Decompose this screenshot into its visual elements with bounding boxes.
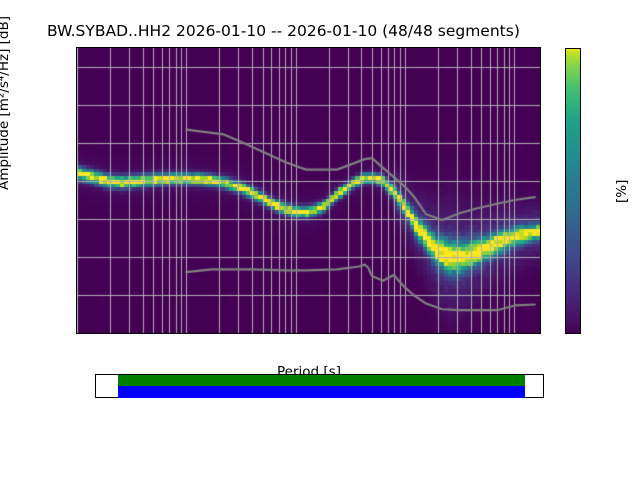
coverage-timeline[interactable] [95, 374, 544, 398]
ppsd-plot-area[interactable] [76, 47, 541, 334]
colorbar-title: [%] [614, 180, 630, 203]
timeline-coverage-bar [118, 386, 525, 398]
ppsd-figure: BW.SYBAD..HH2 2026-01-10 -- 2026-01-10 (… [0, 0, 640, 480]
noise-model-curves [77, 48, 540, 333]
colorbar[interactable] [565, 48, 581, 334]
y-axis-title: Amplitude [m²/s⁴/Hz] [dB] [0, 16, 12, 190]
timeline-used-bar [118, 375, 525, 386]
figure-title: BW.SYBAD..HH2 2026-01-10 -- 2026-01-10 (… [47, 22, 520, 40]
